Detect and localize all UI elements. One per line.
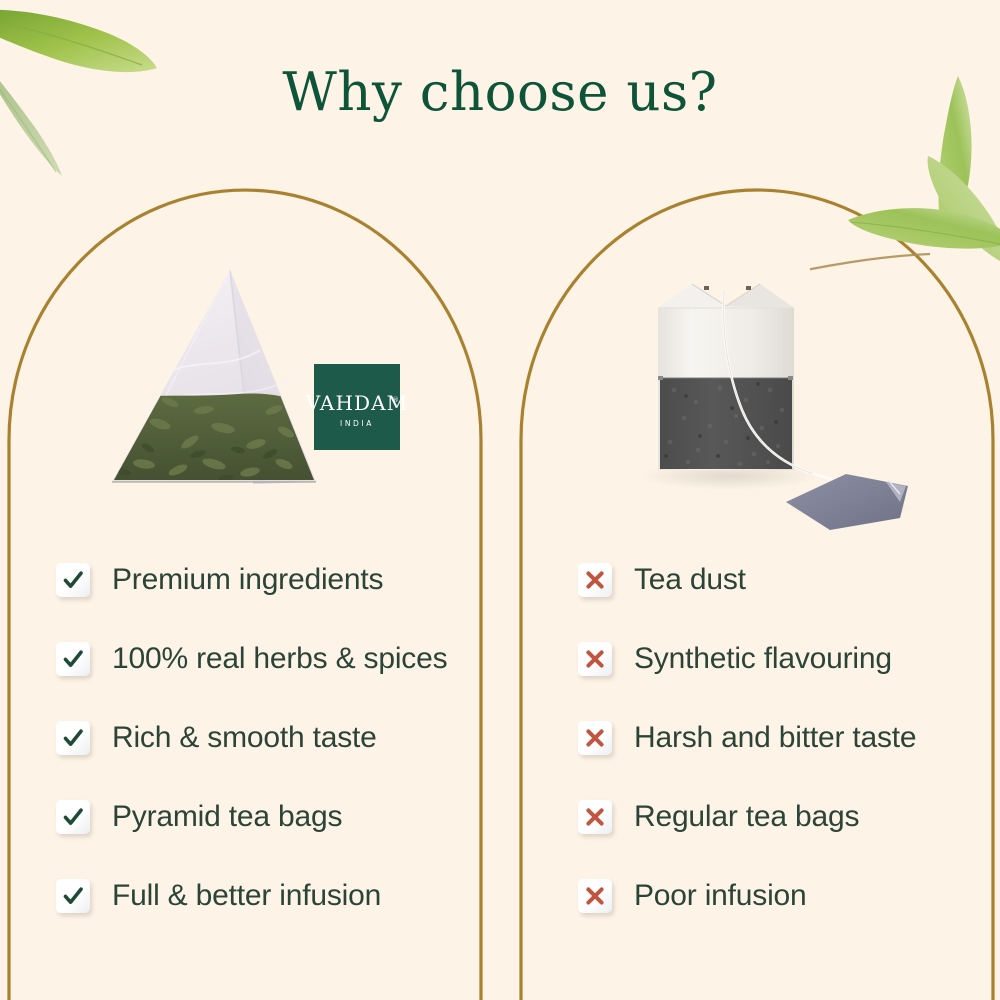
check-icon (56, 879, 90, 913)
list-item[interactable]: Tea dust (578, 540, 978, 619)
list-item-label: 100% real herbs & spices (112, 642, 447, 676)
list-item-label: Full & better infusion (112, 879, 381, 913)
list-item-label: Pyramid tea bags (112, 800, 342, 834)
regular-tea-bag-image (600, 250, 950, 530)
list-item[interactable]: Premium ingredients (56, 540, 476, 619)
check-icon (56, 642, 90, 676)
list-item[interactable]: Regular tea bags (578, 777, 978, 856)
cross-icon (578, 800, 612, 834)
cross-icon (578, 879, 612, 913)
vahdam-benefits-list: Premium ingredients 100% real herbs & sp… (56, 540, 476, 935)
svg-text:INDIA: INDIA (340, 419, 374, 428)
list-item[interactable]: Harsh and bitter taste (578, 698, 978, 777)
check-icon (56, 800, 90, 834)
list-item[interactable]: Pyramid tea bags (56, 777, 476, 856)
list-item-label: Premium ingredients (112, 563, 383, 597)
list-item[interactable]: Rich & smooth taste (56, 698, 476, 777)
list-item-label: Synthetic flavouring (634, 642, 892, 676)
list-item-label: Regular tea bags (634, 800, 859, 834)
list-item[interactable]: Synthetic flavouring (578, 619, 978, 698)
list-item-label: Tea dust (634, 563, 746, 597)
pyramid-tea-bag-image: VAHDAM ® INDIA (78, 252, 418, 512)
cross-icon (578, 563, 612, 597)
others-drawbacks-list: Tea dust Synthetic flavouring Harsh and … (578, 540, 978, 935)
list-item-label: Rich & smooth taste (112, 721, 377, 755)
list-item[interactable]: 100% real herbs & spices (56, 619, 476, 698)
svg-text:®: ® (392, 396, 399, 404)
vahdam-logo-tag: VAHDAM ® INDIA (305, 364, 409, 450)
cross-icon (578, 642, 612, 676)
check-icon (56, 721, 90, 755)
check-icon (56, 563, 90, 597)
cross-icon (578, 721, 612, 755)
list-item-label: Poor infusion (634, 879, 807, 913)
why-choose-us-infographic: Why choose us? (0, 0, 1000, 1000)
list-item[interactable]: Full & better infusion (56, 856, 476, 935)
list-item[interactable]: Poor infusion (578, 856, 978, 935)
list-item-label: Harsh and bitter taste (634, 721, 916, 755)
page-title: Why choose us? (0, 62, 1000, 123)
